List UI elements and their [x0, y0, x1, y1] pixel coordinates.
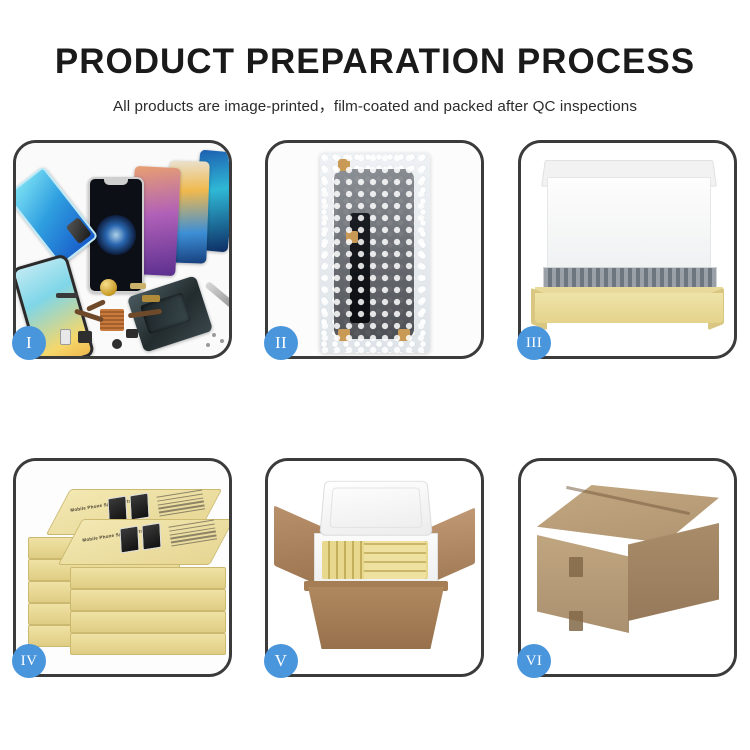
sim-tray-part [60, 329, 71, 345]
process-step-grid: I II III [13, 140, 737, 677]
tape-tab-top [338, 159, 350, 171]
process-step-2[interactable]: II [265, 140, 484, 359]
screw-part-3 [206, 343, 210, 347]
process-step-6[interactable]: VI [518, 458, 737, 677]
step-3-photo [521, 143, 734, 356]
gold-connector-part [130, 283, 146, 289]
button-part [112, 339, 122, 349]
box-stack: Mobile Phone Spare Parts Mobile Phone Sp… [24, 483, 224, 659]
step-2-photo [268, 143, 481, 356]
tape-tab-mid [346, 231, 358, 243]
screw-part-2 [220, 339, 224, 343]
carton-tape-lower [569, 611, 583, 631]
stacked-box-8 [70, 611, 226, 633]
process-step-5[interactable]: V [265, 458, 484, 677]
step-badge-3: III [517, 326, 551, 360]
box-front-panel [535, 293, 723, 323]
wrapped-screen-body [334, 169, 414, 339]
step-badge-1: I [12, 326, 46, 360]
copper-contact-part [142, 295, 160, 302]
antenna-strip-part [56, 293, 78, 298]
step-4-photo: Mobile Phone Spare Parts Mobile Phone Sp… [16, 461, 229, 674]
phone-screen-blue-tilted [16, 166, 99, 266]
process-step-1[interactable]: I [13, 140, 232, 359]
white-foam-sheet [547, 177, 711, 271]
screw-part-1 [212, 333, 216, 337]
page-header: PRODUCT PREPARATION PROCESS All products… [0, 0, 750, 116]
step-6-photo [521, 461, 734, 674]
screwdriver-tool [204, 281, 229, 312]
process-step-3[interactable]: III [518, 140, 737, 359]
speaker-coil-part [100, 279, 117, 296]
chipset-grid-part [100, 309, 124, 331]
stacked-box-9 [70, 633, 226, 655]
step-badge-2: II [264, 326, 298, 360]
step-5-photo [268, 461, 481, 674]
page-title: PRODUCT PREPARATION PROCESS [0, 0, 750, 82]
bubble-wrap-sheet [320, 153, 430, 353]
carton-tape-upper [569, 557, 583, 577]
stacked-box-6 [70, 567, 226, 589]
yellow-boxes-contents-right [364, 541, 426, 579]
tape-tab-bottom-right [398, 329, 410, 341]
carton-left-face [537, 535, 629, 633]
step-badge-5: V [264, 644, 298, 678]
stacked-box-7 [70, 589, 226, 611]
carton-body [308, 587, 444, 649]
box-label-phone-image-4 [141, 522, 161, 550]
box-label-phone-image-2 [129, 492, 149, 520]
styrofoam-lid [319, 481, 432, 536]
wrapped-screen-flex [350, 213, 370, 323]
vibrator-part [126, 329, 138, 338]
step-badge-6: VI [517, 644, 551, 678]
step-badge-4: IV [12, 644, 46, 678]
process-step-4[interactable]: Mobile Phone Spare Parts Mobile Phone Sp… [13, 458, 232, 677]
page-subtitle: All products are image-printed，film-coat… [0, 82, 750, 116]
step-1-photo [16, 143, 229, 356]
camera-module-part [78, 331, 92, 343]
tape-tab-bottom-left [338, 329, 350, 341]
box-label-phone-image-3 [119, 525, 139, 553]
